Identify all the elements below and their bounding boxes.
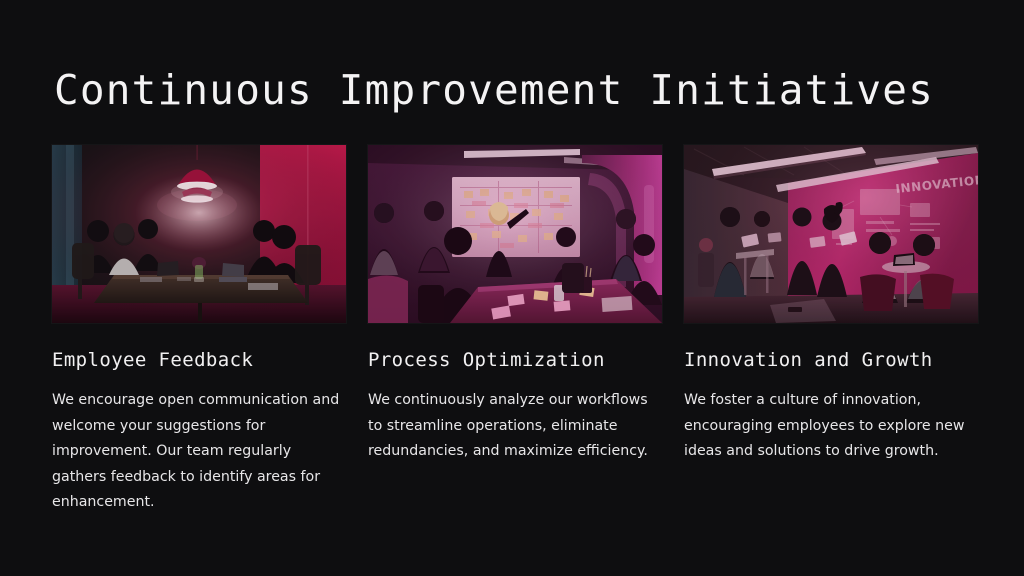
feature-column-innovation-growth: INNOVATION <box>684 145 978 516</box>
card-body-innovation-growth: We foster a culture of innovation, encou… <box>684 388 978 465</box>
meeting-room-photo <box>52 145 346 323</box>
card-heading-process-optimization: Process Optimization <box>368 349 662 371</box>
card-heading-innovation-growth: Innovation and Growth <box>684 349 978 371</box>
feature-columns: Employee Feedback We encourage open comm… <box>52 145 972 516</box>
whiteboard-workshop-photo <box>368 145 662 323</box>
innovation-lab-illustration: INNOVATION <box>684 145 978 323</box>
whiteboard-workshop-illustration <box>368 145 662 323</box>
innovation-lab-photo: INNOVATION <box>684 145 978 323</box>
card-body-process-optimization: We continuously analyze our workflows to… <box>368 388 654 465</box>
feature-column-employee-feedback: Employee Feedback We encourage open comm… <box>52 145 346 516</box>
card-body-employee-feedback: We encourage open communication and welc… <box>52 388 344 516</box>
meeting-room-illustration <box>52 145 346 323</box>
page-title: Continuous Improvement Initiatives <box>54 66 934 114</box>
feature-column-process-optimization: Process Optimization We continuously ana… <box>368 145 662 516</box>
slide-root: Continuous Improvement Initiatives <box>0 0 1024 576</box>
card-heading-employee-feedback: Employee Feedback <box>52 349 346 371</box>
